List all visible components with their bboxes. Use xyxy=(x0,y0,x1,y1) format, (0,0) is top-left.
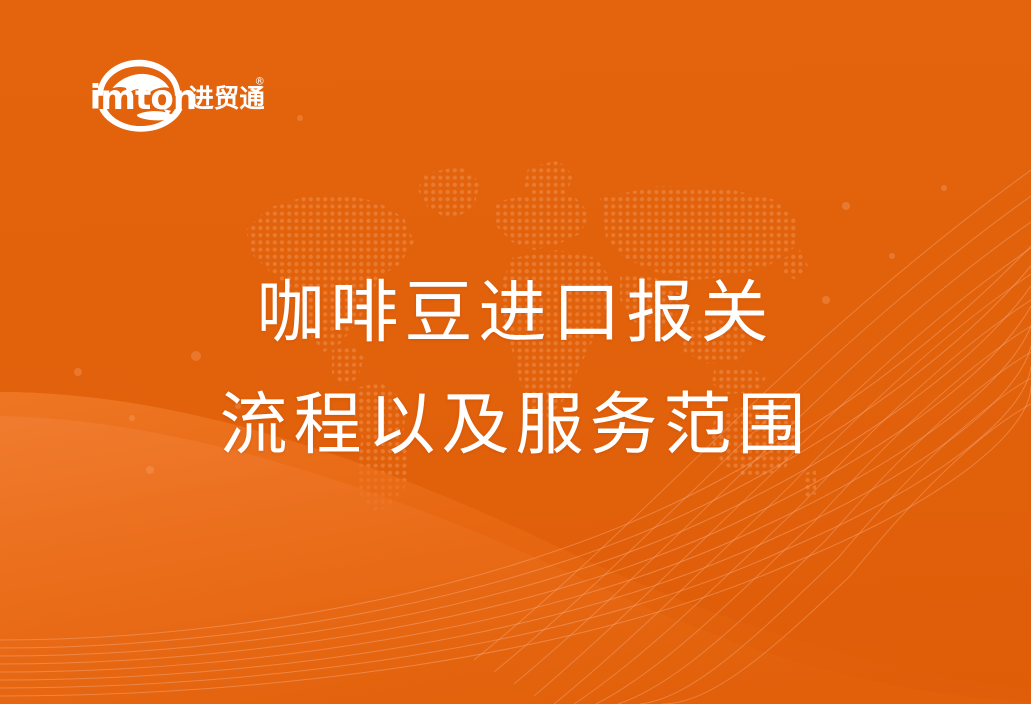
poster-canvas: imton 进贸通 ® 咖啡豆进口报关 流程以及服务范围 xyxy=(0,0,1031,704)
title-line-2: 流程以及服务范围 xyxy=(0,370,1031,482)
brand-logo[interactable]: imton 进贸通 ® xyxy=(42,24,232,110)
registered-trademark-symbol: ® xyxy=(255,75,264,87)
logo-wordmark-cn: 进贸通 xyxy=(188,84,264,114)
title-line-1: 咖啡豆进口报关 xyxy=(0,258,1031,370)
globe-logo-icon: imton 进贸通 ® xyxy=(84,50,264,132)
logo-wordmark-latin: imton xyxy=(90,78,196,118)
page-title: 咖啡豆进口报关 流程以及服务范围 xyxy=(0,258,1031,482)
